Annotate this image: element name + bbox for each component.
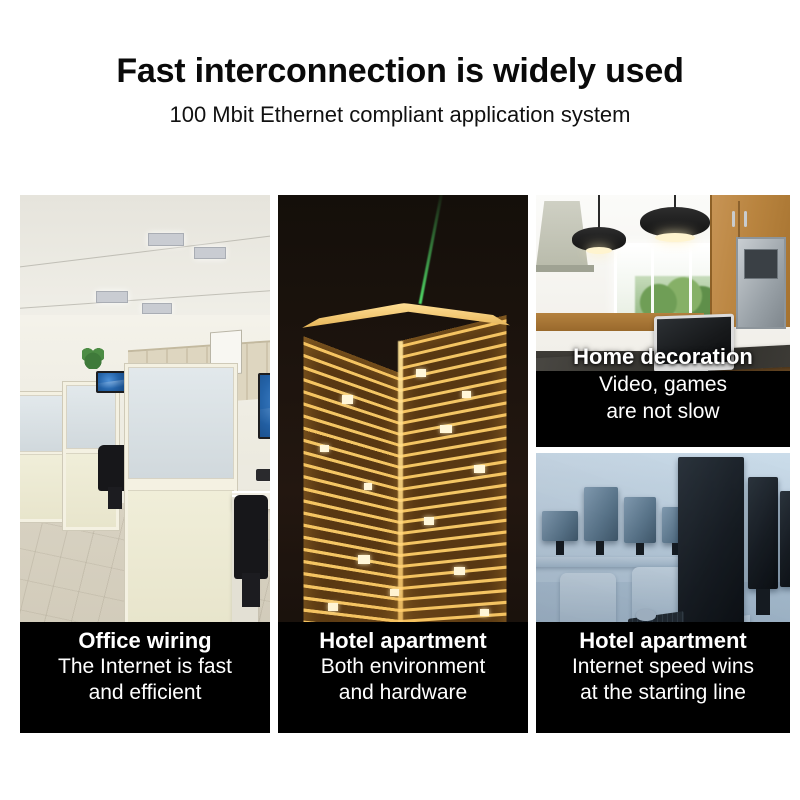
page-title: Fast interconnection is widely used bbox=[0, 0, 800, 90]
panel-hotel-apartment-tower[interactable]: Hotel apartment Both environment and har… bbox=[278, 195, 528, 733]
caption-subtitle-line2: at the starting line bbox=[536, 680, 790, 706]
caption-hotel-apartment-tower: Hotel apartment Both environment and har… bbox=[278, 622, 528, 733]
panel-hotel-apartment-lab[interactable]: Hotel apartment Internet speed wins at t… bbox=[536, 453, 790, 733]
header: Fast interconnection is widely used 100 … bbox=[0, 0, 800, 127]
caption-subtitle-line1: Video, games bbox=[536, 371, 790, 398]
panel-column-middle: Hotel apartment Both environment and har… bbox=[278, 195, 528, 733]
caption-home-decoration: Home decoration Video, games are not slo… bbox=[536, 371, 790, 447]
panel-grid: Office wiring The Internet is fast and e… bbox=[20, 195, 790, 733]
panel-home-decoration[interactable]: Home decoration Video, games are not slo… bbox=[536, 195, 790, 447]
panel-office-wiring[interactable]: Office wiring The Internet is fast and e… bbox=[20, 195, 270, 733]
caption-subtitle-line2: are not slow bbox=[536, 398, 790, 425]
caption-subtitle-line1: Internet speed wins bbox=[536, 654, 790, 680]
caption-subtitle-line2: and efficient bbox=[20, 680, 270, 706]
caption-title: Home decoration bbox=[536, 344, 790, 370]
pendant-lamp-left bbox=[572, 195, 626, 271]
caption-title: Hotel apartment bbox=[278, 628, 528, 654]
caption-title: Hotel apartment bbox=[536, 628, 790, 654]
pendant-lamp-right bbox=[640, 195, 710, 261]
caption-office-wiring: Office wiring The Internet is fast and e… bbox=[20, 622, 270, 733]
caption-title: Office wiring bbox=[20, 628, 270, 654]
caption-subtitle-line2: and hardware bbox=[278, 680, 528, 706]
panel-column-left: Office wiring The Internet is fast and e… bbox=[20, 195, 270, 733]
panel-column-right: Home decoration Video, games are not slo… bbox=[536, 195, 790, 733]
caption-subtitle-line1: Both environment bbox=[278, 654, 528, 680]
laser-beam bbox=[419, 195, 445, 304]
caption-subtitle-line1: The Internet is fast bbox=[20, 654, 270, 680]
caption-hotel-apartment-lab: Hotel apartment Internet speed wins at t… bbox=[536, 622, 790, 733]
page-subtitle: 100 Mbit Ethernet compliant application … bbox=[0, 90, 800, 127]
